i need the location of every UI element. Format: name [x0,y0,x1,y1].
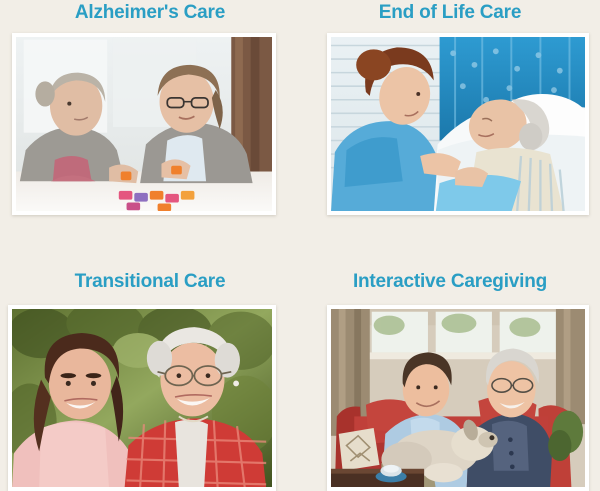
service-card-end-of-life-care[interactable]: End of Life Care [300,0,600,215]
card-title-end-of-life-care: End of Life Care [300,0,600,27]
transitional-care-photo [12,309,272,487]
services-grid: Alzheimer's Care [0,0,600,478]
photo-frame-interactive-caregiving[interactable] [327,305,589,491]
end-of-life-care-photo [331,37,585,211]
alzheimers-care-photo [16,37,272,211]
photo-frame-end-of-life-care[interactable] [327,33,589,215]
service-card-transitional-care[interactable]: Transitional Care [0,255,300,491]
service-card-interactive-caregiving[interactable]: Interactive Caregiving [300,255,600,491]
card-title-transitional-care: Transitional Care [0,268,300,296]
interactive-caregiving-photo [331,309,585,487]
photo-frame-alzheimers-care[interactable] [12,33,276,215]
service-card-alzheimers-care[interactable]: Alzheimer's Care [0,0,300,215]
card-title-interactive-caregiving: Interactive Caregiving [300,268,600,296]
photo-frame-transitional-care[interactable] [8,305,276,491]
card-title-alzheimers-care: Alzheimer's Care [0,0,300,27]
